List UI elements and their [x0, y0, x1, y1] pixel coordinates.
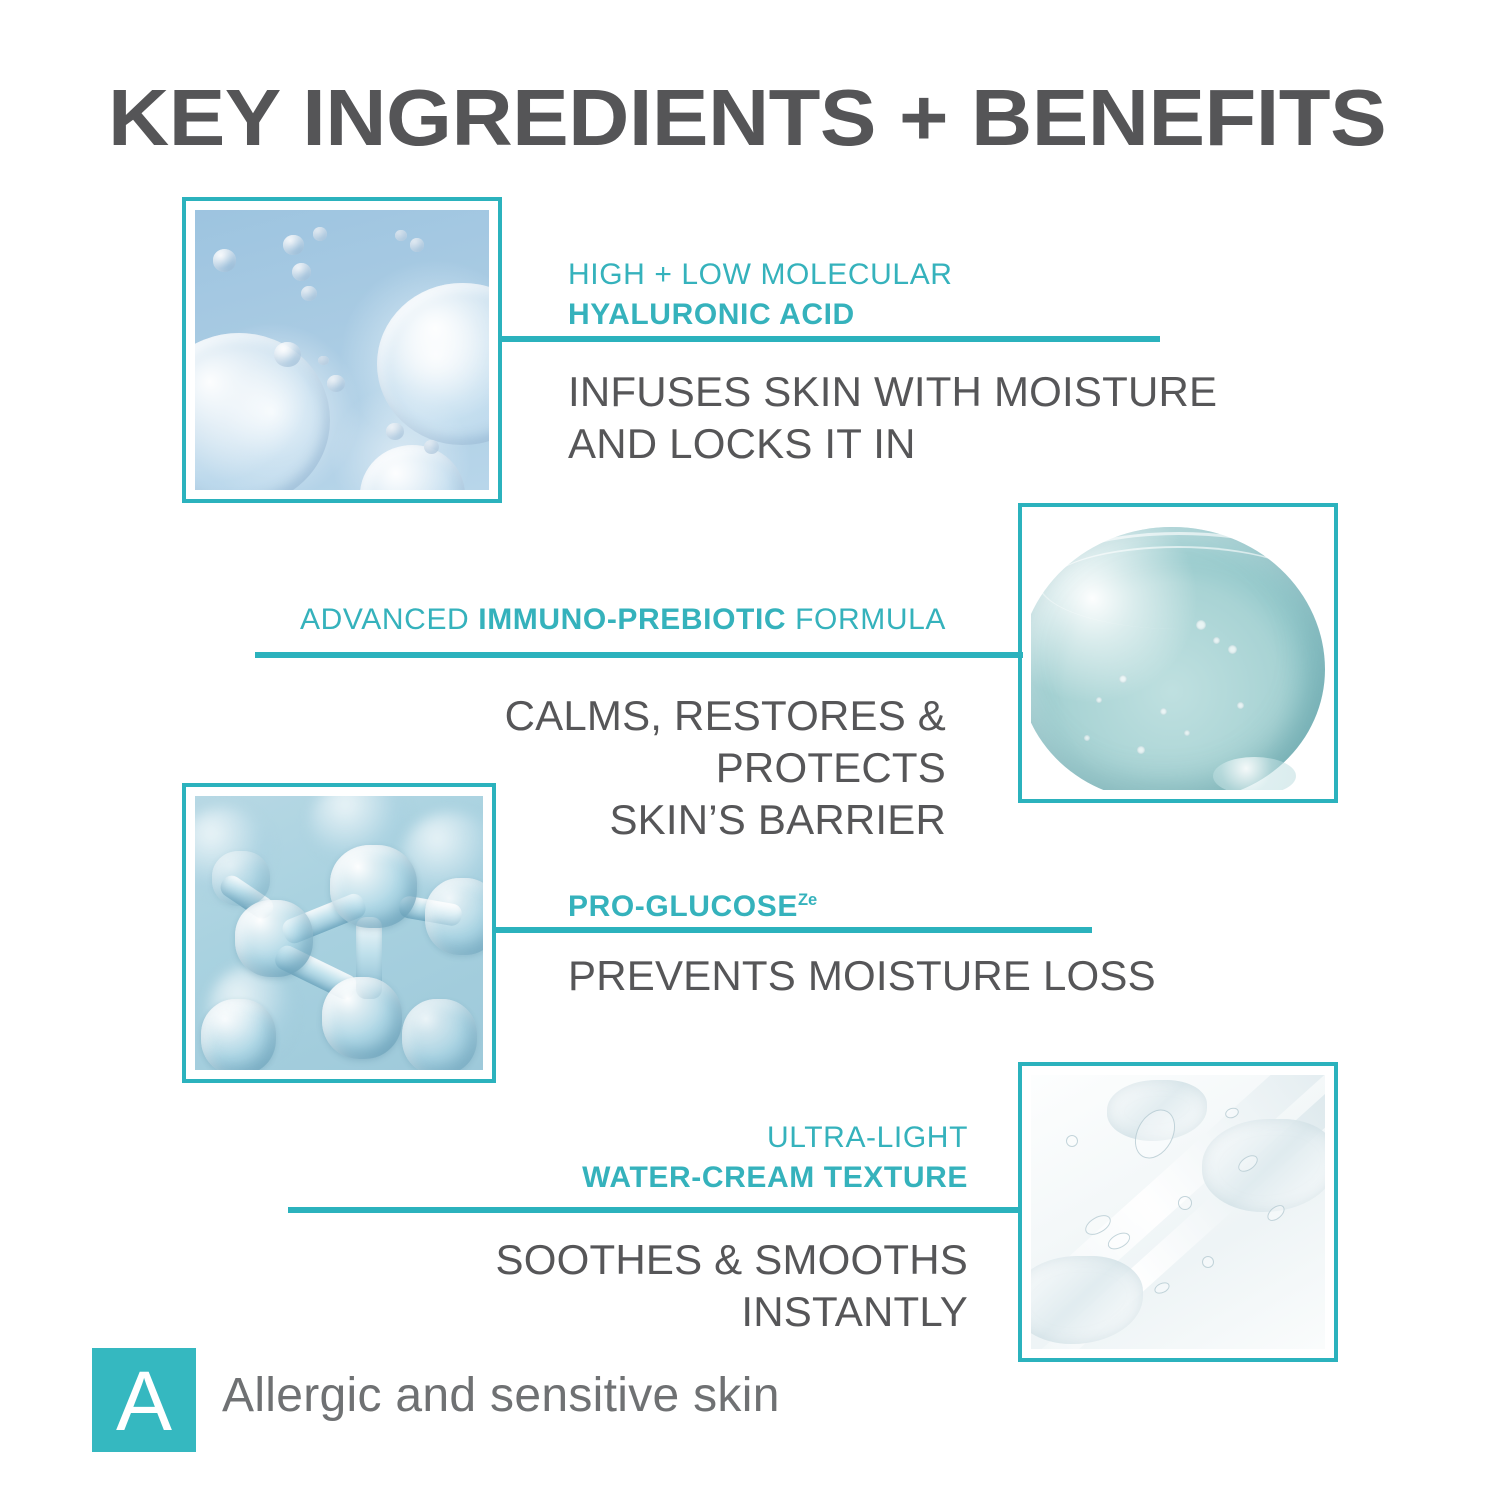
ingredient-image-hyaluronic-acid: [182, 197, 502, 503]
benefit-line1: PREVENTS MOISTURE LOSS: [568, 952, 1156, 999]
ingredient-heading-superscript: Ze: [798, 891, 817, 909]
connector-rule-3: [492, 927, 1092, 933]
page-title: KEY INGREDIENTS + BENEFITS: [108, 74, 1486, 162]
water-cream-texture-photo: [1031, 1075, 1325, 1349]
connector-rule-1: [498, 336, 1160, 342]
benefit-line1: INFUSES SKIN WITH MOISTURE: [568, 368, 1217, 415]
ingredient-image-immuno-prebiotic: [1018, 503, 1338, 803]
allergy-badge-letter: A: [92, 1348, 196, 1454]
ingredient-heading-suffix: FORMULA: [786, 603, 946, 636]
molecule-photo: [195, 796, 483, 1070]
ingredient-heading-line2: HYALURONIC ACID: [568, 298, 855, 331]
ingredient-heading-line1: ULTRA-LIGHT: [767, 1121, 968, 1154]
ingredient-image-pro-glucose: [182, 783, 496, 1083]
ingredient-heading-immuno-prebiotic: ADVANCED IMMUNO-PREBIOTIC FORMULA: [260, 600, 946, 640]
benefit-line2: SKIN’S BARRIER: [609, 796, 946, 843]
ingredient-heading-line1: HIGH + LOW MOLECULAR: [568, 258, 953, 291]
allergy-badge: A: [92, 1348, 196, 1452]
ingredient-heading-pro-glucose: PRO-GLUCOSEZe: [568, 880, 1208, 927]
connector-rule-2: [255, 652, 1023, 658]
ingredient-heading-hyaluronic-acid: HIGH + LOW MOLECULAR HYALURONIC ACID: [568, 255, 1228, 335]
infographic-page: KEY INGREDIENTS + BENEFITS HIGH + LOW MO…: [0, 0, 1500, 1500]
ingredient-image-water-cream-texture: [1018, 1062, 1338, 1362]
connector-rule-4: [288, 1207, 1022, 1213]
benefit-line1: SOOTHES & SMOOTHS INSTANTLY: [496, 1236, 968, 1335]
allergy-badge-label: Allergic and sensitive skin: [222, 1364, 780, 1428]
benefit-text-water-cream-texture: SOOTHES & SMOOTHS INSTANTLY: [260, 1234, 968, 1338]
bubbles-photo: [195, 210, 489, 490]
ingredient-heading-line2: PRO-GLUCOSE: [568, 890, 798, 923]
benefit-text-hyaluronic-acid: INFUSES SKIN WITH MOISTURE AND LOCKS IT …: [568, 366, 1268, 470]
benefit-line1: CALMS, RESTORES & PROTECTS: [505, 692, 946, 791]
ingredient-heading-line2: WATER-CREAM TEXTURE: [582, 1161, 968, 1194]
benefit-line2: AND LOCKS IT IN: [568, 420, 916, 467]
ingredient-heading-water-cream-texture: ULTRA-LIGHT WATER-CREAM TEXTURE: [300, 1118, 968, 1198]
gel-dome-photo: [1031, 516, 1325, 790]
ingredient-heading-prefix: ADVANCED: [300, 603, 478, 636]
ingredient-heading-bold: IMMUNO-PREBIOTIC: [478, 603, 786, 636]
benefit-text-pro-glucose: PREVENTS MOISTURE LOSS: [568, 950, 1268, 1002]
